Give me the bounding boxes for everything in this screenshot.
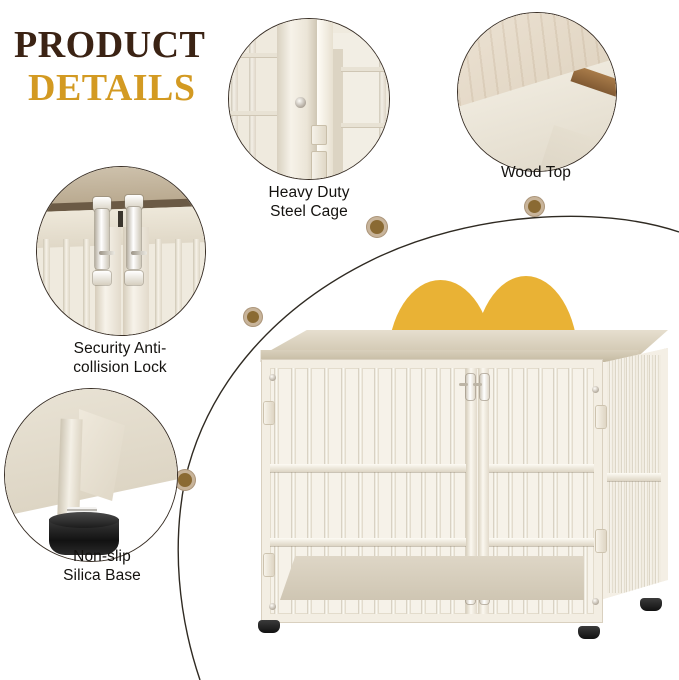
callout-label-security-anti-collision-lock: Security Anti- collision Lock [20, 340, 220, 378]
crate-screw-bottom-left [269, 603, 276, 610]
connector-dot-wood-top [524, 196, 545, 217]
callout-image-wood-top [457, 12, 617, 172]
cage-screw-icon [295, 97, 306, 108]
crate-latch-top-left[interactable] [466, 374, 475, 400]
callout-label-wood-top: Wood Top [456, 164, 616, 183]
crate-hinge-right-lower [596, 530, 606, 552]
lock-lever-left [99, 251, 115, 255]
crate-screw-top-right [592, 386, 599, 393]
crate-foot-right [640, 598, 662, 611]
lock-bolt-right [127, 207, 141, 269]
crate-front-face [262, 360, 602, 622]
crate-latch-top-right[interactable] [480, 374, 489, 400]
callout-image-security-anti-collision-lock [36, 166, 206, 336]
page-title: PRODUCT DETAILS [14, 26, 205, 107]
title-line-details: DETAILS [28, 69, 205, 107]
crate-hinge-lower [264, 554, 274, 576]
product-photo [236, 262, 676, 662]
crate-foot-left [258, 620, 280, 633]
crate-hinge-right-upper [596, 406, 606, 428]
callout-image-non-slip-silica-base [4, 388, 178, 562]
crate-tray [280, 556, 584, 600]
callout-label-heavy-duty-steel-cage: Heavy Duty Steel Cage [228, 184, 390, 222]
crate-foot-center [578, 626, 600, 639]
callout-label-non-slip-silica-base: Non-slip Silica Base [14, 548, 190, 586]
infographic-canvas: PRODUCT DETAILS Heavy Duty Steel Cage [0, 0, 679, 680]
dog-crate-furniture [248, 330, 668, 640]
crate-screw-bottom-right [592, 598, 599, 605]
title-line-product: PRODUCT [14, 26, 205, 64]
crate-screw-top-left [269, 374, 276, 381]
callout-image-heavy-duty-steel-cage [228, 18, 390, 180]
lock-lever-right [131, 251, 147, 255]
crate-side-panel [600, 348, 668, 600]
crate-hinge-upper [264, 402, 274, 424]
lock-bolt-foot-left [93, 271, 111, 285]
lock-bolt-foot-right [125, 271, 143, 285]
lock-bolt-left [95, 209, 109, 269]
